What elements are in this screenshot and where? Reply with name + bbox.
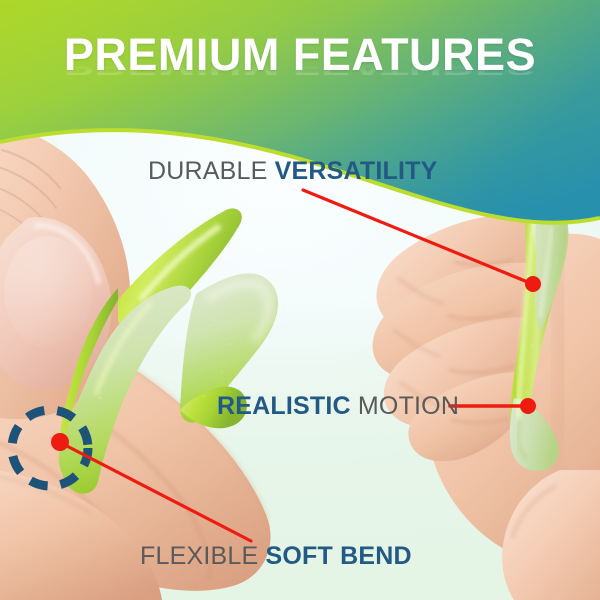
callout-highlight-text: REALISTIC [217,392,351,420]
product-artwork [0,0,600,600]
callout-flexible-soft-bend: FLEXIBLE SOFT BEND [140,544,412,569]
callout-plain-text: FLEXIBLE [140,542,265,570]
callout-plain-text: MOTION [351,392,459,420]
callout-realistic-motion: REALISTIC MOTION [217,394,459,419]
callout-durable-versatility: DURABLE VERSATILITY [148,159,438,184]
callout-highlight-text: VERSATILITY [275,157,438,185]
callout-highlight-text: SOFT BEND [265,542,411,570]
callout-plain-text: DURABLE [148,157,275,185]
infographic-canvas: PREMIUM FEATURES PREMIUM FEATURES DURABL… [0,0,600,600]
left-hand-group [0,120,278,600]
